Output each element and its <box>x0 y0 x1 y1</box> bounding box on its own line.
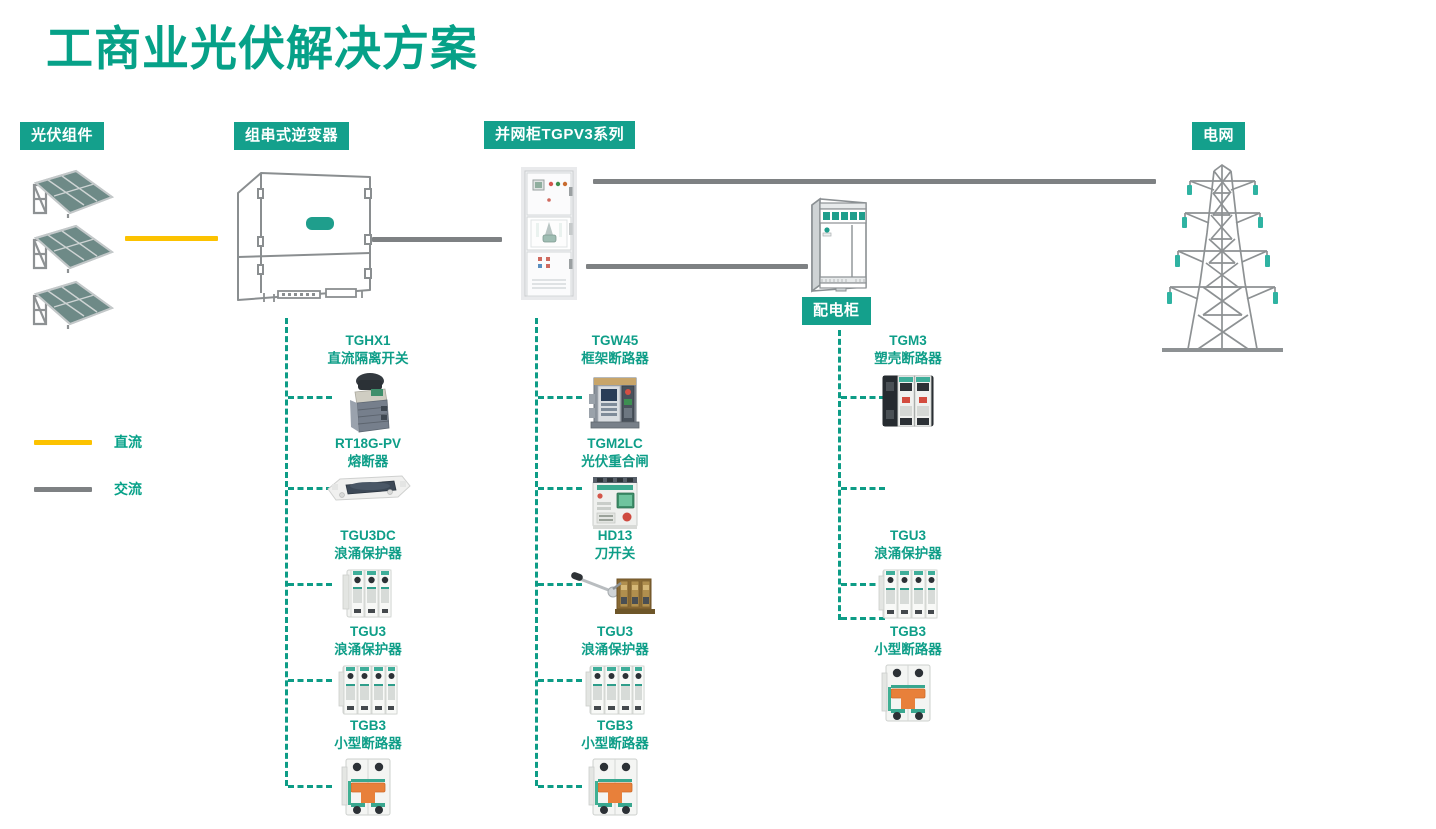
product-name-c2-2: 光伏重合闸 <box>545 453 685 471</box>
legend-swatch-ac <box>34 487 92 492</box>
solar-panel-icon <box>24 165 114 220</box>
product-model-c3-3: TGB3 <box>838 623 978 641</box>
product-model-c2-5: TGB3 <box>545 717 685 735</box>
product-name-c3-3: 小型断路器 <box>838 641 978 659</box>
product-model-c3-2: TGU3 <box>838 527 978 545</box>
string-inverter-illustration <box>230 165 375 315</box>
product-name-c2-3: 刀开关 <box>545 545 685 563</box>
badge-distribution-cabinet[interactable]: 配电柜 <box>802 297 871 325</box>
product-item-c1-1[interactable]: TGHX1 直流隔离开关 <box>298 332 438 436</box>
product-model-c1-5: TGB3 <box>298 717 438 735</box>
mccb-image <box>877 370 939 430</box>
product-item-c2-5[interactable]: TGB3 小型断路器 <box>545 717 685 819</box>
product-item-c3-2[interactable]: TGU3 浪涌保护器 <box>838 527 978 623</box>
legend-label-ac: 交流 <box>114 479 142 499</box>
spd-4pole-image <box>875 565 941 623</box>
product-model-c2-2: TGM2LC <box>545 435 685 453</box>
product-name-c2-4: 浪涌保护器 <box>545 641 685 659</box>
product-item-c2-3[interactable]: HD13 刀开关 <box>545 527 685 619</box>
pv-array-1 <box>24 165 114 220</box>
product-item-c1-2[interactable]: RT18G-PV 熔断器 <box>298 435 438 503</box>
product-model-c1-2: RT18G-PV <box>298 435 438 453</box>
product-name-c1-3: 浪涌保护器 <box>298 545 438 563</box>
mcb-2pole-image <box>585 755 645 819</box>
ac-line-grid-cabinet-to-tower <box>593 179 1156 184</box>
acb-image <box>586 370 644 432</box>
product-model-c1-1: TGHX1 <box>298 332 438 350</box>
product-item-c2-1[interactable]: TGW45 框架断路器 <box>545 332 685 432</box>
transmission-tower-illustration <box>1160 163 1285 363</box>
ac-line-inverter-to-grid-cabinet <box>372 237 502 242</box>
legend-label-dc: 直流 <box>114 432 142 452</box>
ac-line-grid-cabinet-to-distribution <box>586 264 808 269</box>
dashed-trunk-column-1 <box>285 318 288 786</box>
fuse-holder-image <box>324 473 412 503</box>
knife-switch-image <box>569 565 661 619</box>
product-model-c1-3: TGU3DC <box>298 527 438 545</box>
pv-array-3 <box>24 276 114 331</box>
product-item-c2-4[interactable]: TGU3 浪涌保护器 <box>545 623 685 719</box>
product-model-c2-4: TGU3 <box>545 623 685 641</box>
product-item-c3-1[interactable]: TGM3 塑壳断路器 <box>838 332 978 430</box>
product-model-c2-3: HD13 <box>545 527 685 545</box>
grid-cabinet-icon <box>521 167 577 300</box>
badge-grid-cabinet[interactable]: 并网柜TGPV3系列 <box>484 121 635 149</box>
distribution-cabinet-illustration <box>806 195 872 300</box>
product-model-c1-4: TGU3 <box>298 623 438 641</box>
badge-pv-modules[interactable]: 光伏组件 <box>20 122 104 150</box>
product-name-c2-1: 框架断路器 <box>545 350 685 368</box>
mcb-2pole-image <box>338 755 398 819</box>
inverter-icon <box>230 165 375 310</box>
product-name-c1-2: 熔断器 <box>298 453 438 471</box>
product-name-c1-5: 小型断路器 <box>298 735 438 753</box>
spd-4pole-image <box>335 661 401 719</box>
product-model-c3-1: TGM3 <box>838 332 978 350</box>
legend-item-dc: 直流 <box>34 432 142 452</box>
badge-string-inverter[interactable]: 组串式逆变器 <box>234 122 349 150</box>
product-name-c1-4: 浪涌保护器 <box>298 641 438 659</box>
page-title: 工商业光伏解决方案 <box>46 22 478 76</box>
tgpv3-cabinet-photo <box>521 167 577 305</box>
product-name-c3-1: 塑壳断路器 <box>838 350 978 368</box>
badge-power-grid[interactable]: 电网 <box>1192 122 1245 150</box>
product-model-c2-1: TGW45 <box>545 332 685 350</box>
product-name-c2-5: 小型断路器 <box>545 735 685 753</box>
dashed-branch-c3-2 <box>841 487 885 490</box>
dc-isolator-switch-image <box>337 370 399 436</box>
power-tower-icon <box>1160 163 1285 358</box>
product-item-c1-4[interactable]: TGU3 浪涌保护器 <box>298 623 438 719</box>
legend-item-ac: 交流 <box>34 479 142 499</box>
pv-array-2 <box>24 220 114 275</box>
product-item-c1-5[interactable]: TGB3 小型断路器 <box>298 717 438 819</box>
distribution-cabinet-icon <box>806 195 872 295</box>
recloser-image <box>587 473 643 531</box>
product-item-c3-3[interactable]: TGB3 小型断路器 <box>838 623 978 725</box>
dc-line-pv-to-inverter <box>125 236 218 241</box>
mcb-2pole-image <box>878 661 938 725</box>
solar-panel-icon <box>24 276 114 331</box>
product-item-c2-2[interactable]: TGM2LC 光伏重合闸 <box>545 435 685 531</box>
diagram-canvas: 工商业光伏解决方案 光伏组件 组串式逆变器 并网柜TGPV3系列 配电柜 电网 <box>0 0 1436 829</box>
solar-panel-icon <box>24 220 114 275</box>
spd-3pole-image <box>337 565 399 621</box>
spd-4pole-image <box>582 661 648 719</box>
product-name-c1-1: 直流隔离开关 <box>298 350 438 368</box>
legend-swatch-dc <box>34 440 92 445</box>
dashed-trunk-column-2 <box>535 318 538 786</box>
product-name-c3-2: 浪涌保护器 <box>838 545 978 563</box>
product-item-c1-3[interactable]: TGU3DC 浪涌保护器 <box>298 527 438 621</box>
